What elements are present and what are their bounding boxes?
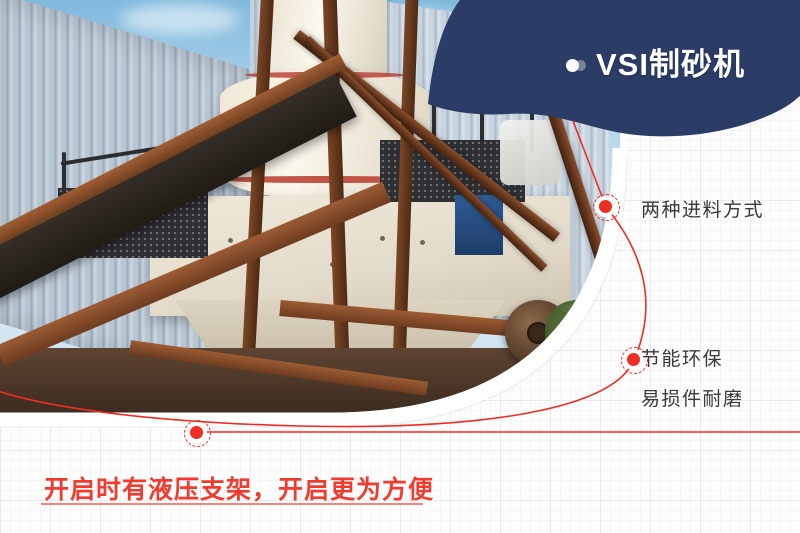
covered-equipment: [500, 120, 560, 185]
feature-label-2: 节能环保: [641, 344, 723, 371]
bottom-caption: 开启时有液压支架，开启更为方便: [44, 470, 434, 506]
poster-canvas: VSI制砂机 两种进料方式 节能环保 易损件耐磨 开启时有液压支架，开启更为方便: [0, 0, 800, 533]
marker-dot-feature-1[interactable]: [599, 200, 612, 213]
vegetation: [545, 300, 620, 370]
cloud-shape: [120, 4, 240, 34]
feature-label-3: 易损件耐磨: [641, 384, 744, 411]
marker-dot-feature-2[interactable]: [627, 353, 640, 366]
title-bullet-shadow-icon: [575, 60, 586, 71]
caption-underline: [41, 503, 423, 505]
product-photo: [0, 0, 620, 418]
product-photo-image: [0, 0, 620, 418]
marker-dot-caption[interactable]: [190, 426, 203, 439]
feature-label-1: 两种进料方式: [641, 195, 764, 222]
handrail-post: [480, 100, 484, 148]
page-title: VSI制砂机: [596, 39, 745, 84]
